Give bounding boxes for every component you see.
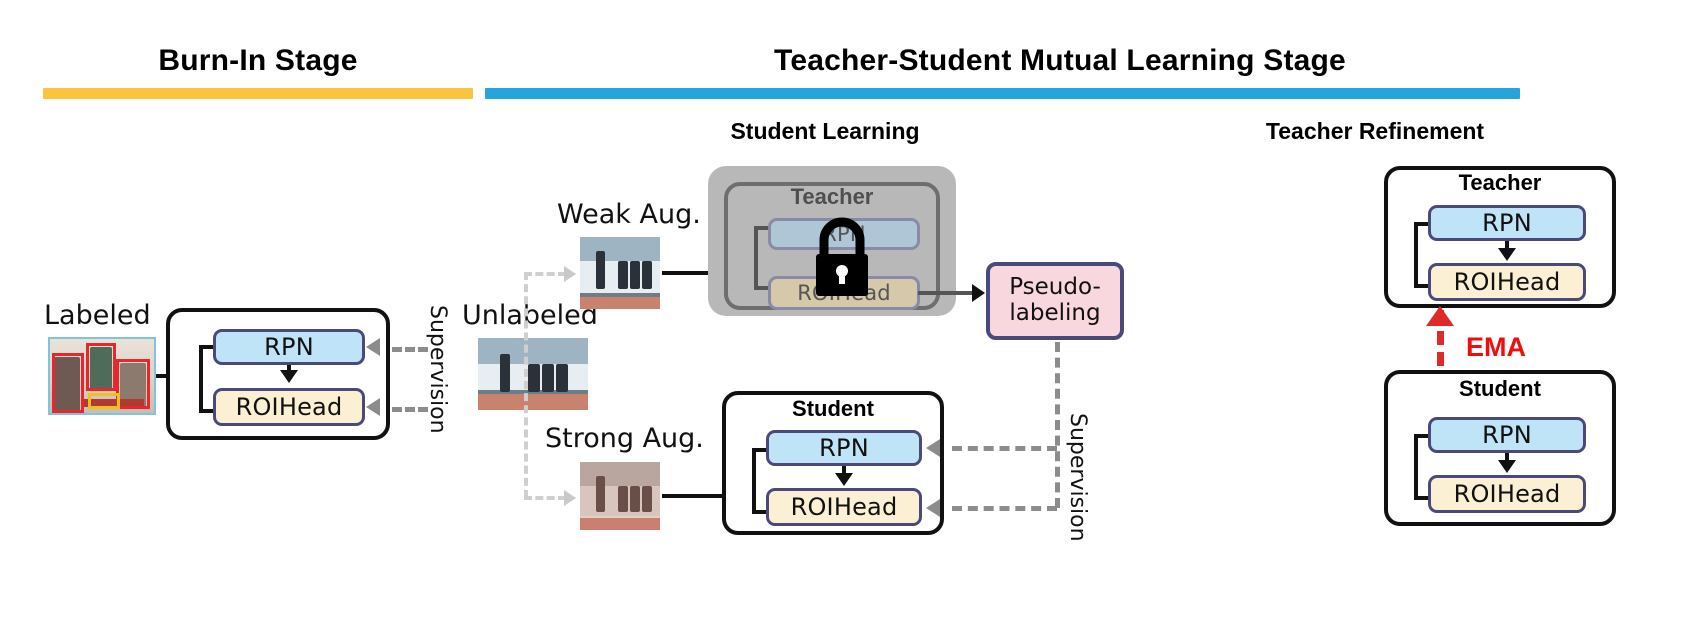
pseudo-labeling-box: Pseudo- labeling xyxy=(986,262,1124,340)
student-rpn-module: RPN xyxy=(766,430,922,466)
labeled-image-thumbnail xyxy=(48,337,156,415)
refinement-student-roihead-module: ROIHead xyxy=(1428,475,1586,513)
lock-icon xyxy=(812,214,872,300)
teacher-refinement-subtitle: Teacher Refinement xyxy=(1215,118,1535,145)
unlabeled-to-weak-dash xyxy=(524,272,566,276)
student-title: Student xyxy=(722,396,944,422)
refinement-teacher-rpn-to-roihead-arrow xyxy=(1498,248,1516,261)
student-rpn-to-roihead-arrow xyxy=(835,473,853,486)
student-roihead-label: ROIHead xyxy=(791,493,898,521)
burn-in-supervision-dash-rpn xyxy=(392,347,428,352)
refinement-teacher-roihead-label: ROIHead xyxy=(1454,268,1561,296)
unlabeled-to-strong-arrowhead xyxy=(564,490,576,506)
strong-aug-image-thumbnail xyxy=(580,462,660,530)
burn-in-roihead-label: ROIHead xyxy=(236,393,343,421)
burn-in-rpn-module: RPN xyxy=(213,329,365,365)
refinement-student-rpn-to-roihead-arrow xyxy=(1498,460,1516,473)
student-rpn-label: RPN xyxy=(819,434,869,462)
refinement-teacher-rpn-label: RPN xyxy=(1482,209,1532,237)
burn-in-supervision-arrowhead-roihead xyxy=(366,398,380,416)
strong-aug-label: Strong Aug. xyxy=(545,423,704,454)
refinement-student-rpn-label: RPN xyxy=(1482,421,1532,449)
burn-in-stage-rule xyxy=(43,88,473,99)
weak-aug-label: Weak Aug. xyxy=(557,199,701,230)
student-learning-subtitle: Student Learning xyxy=(660,118,990,145)
weak-aug-image-thumbnail xyxy=(580,237,660,309)
supervision-arrowhead-rpn xyxy=(926,439,940,457)
refinement-student-rpn-module: RPN xyxy=(1428,417,1586,453)
mutual-learning-stage-title: Teacher-Student Mutual Learning Stage xyxy=(530,44,1590,78)
teacher-title-frozen: Teacher xyxy=(724,184,940,210)
teacher-frozen-split-vline xyxy=(754,226,758,290)
pseudo-labeling-line1: Pseudo- xyxy=(1009,275,1101,301)
supervision-dash-to-roihead xyxy=(952,506,1057,511)
labeled-input-label: Labeled xyxy=(44,300,151,331)
student-roihead-module: ROIHead xyxy=(766,488,922,526)
teacher-frozen-out-line xyxy=(918,291,976,295)
burn-in-rpn-label: RPN xyxy=(264,333,314,361)
refinement-teacher-split-vline xyxy=(1414,222,1418,288)
burn-in-stage-title: Burn-In Stage xyxy=(0,44,516,78)
refinement-student-title: Student xyxy=(1384,376,1616,402)
burn-in-rpn-to-roihead-line xyxy=(287,365,291,375)
strong-aug-to-student-line xyxy=(662,494,728,498)
refinement-teacher-rpn-module: RPN xyxy=(1428,205,1586,241)
burn-in-split-vline xyxy=(199,345,203,413)
refinement-teacher-title: Teacher xyxy=(1384,170,1616,196)
teacher-frozen-out-arrowhead xyxy=(972,284,985,302)
student-supervision-label: Supervision xyxy=(1065,413,1090,542)
burn-in-roihead-module: ROIHead xyxy=(213,388,365,426)
pseudo-labeling-line2: labeling xyxy=(1009,301,1100,327)
unlabeled-image-thumbnail xyxy=(478,338,588,410)
burn-in-supervision-label: Supervision xyxy=(425,305,450,434)
ema-arrowhead xyxy=(1426,306,1454,326)
refinement-student-roihead-label: ROIHead xyxy=(1454,480,1561,508)
refinement-student-split-vline xyxy=(1414,434,1418,500)
unlabeled-input-label: Unlabeled xyxy=(462,300,598,331)
burn-in-supervision-dash-roihead xyxy=(392,407,428,412)
ema-label: EMA xyxy=(1466,332,1526,363)
supervision-vline xyxy=(1055,342,1060,508)
burn-in-supervision-arrowhead-rpn xyxy=(366,338,380,356)
mutual-learning-stage-rule xyxy=(485,88,1520,99)
unlabeled-split-vline xyxy=(524,272,528,498)
unlabeled-to-weak-arrowhead xyxy=(564,266,576,282)
supervision-arrowhead-roihead xyxy=(926,499,940,517)
refinement-teacher-roihead-module: ROIHead xyxy=(1428,263,1586,301)
unlabeled-to-strong-dash xyxy=(524,496,566,500)
student-split-vline xyxy=(752,448,756,514)
supervision-dash-to-rpn xyxy=(952,446,1057,451)
